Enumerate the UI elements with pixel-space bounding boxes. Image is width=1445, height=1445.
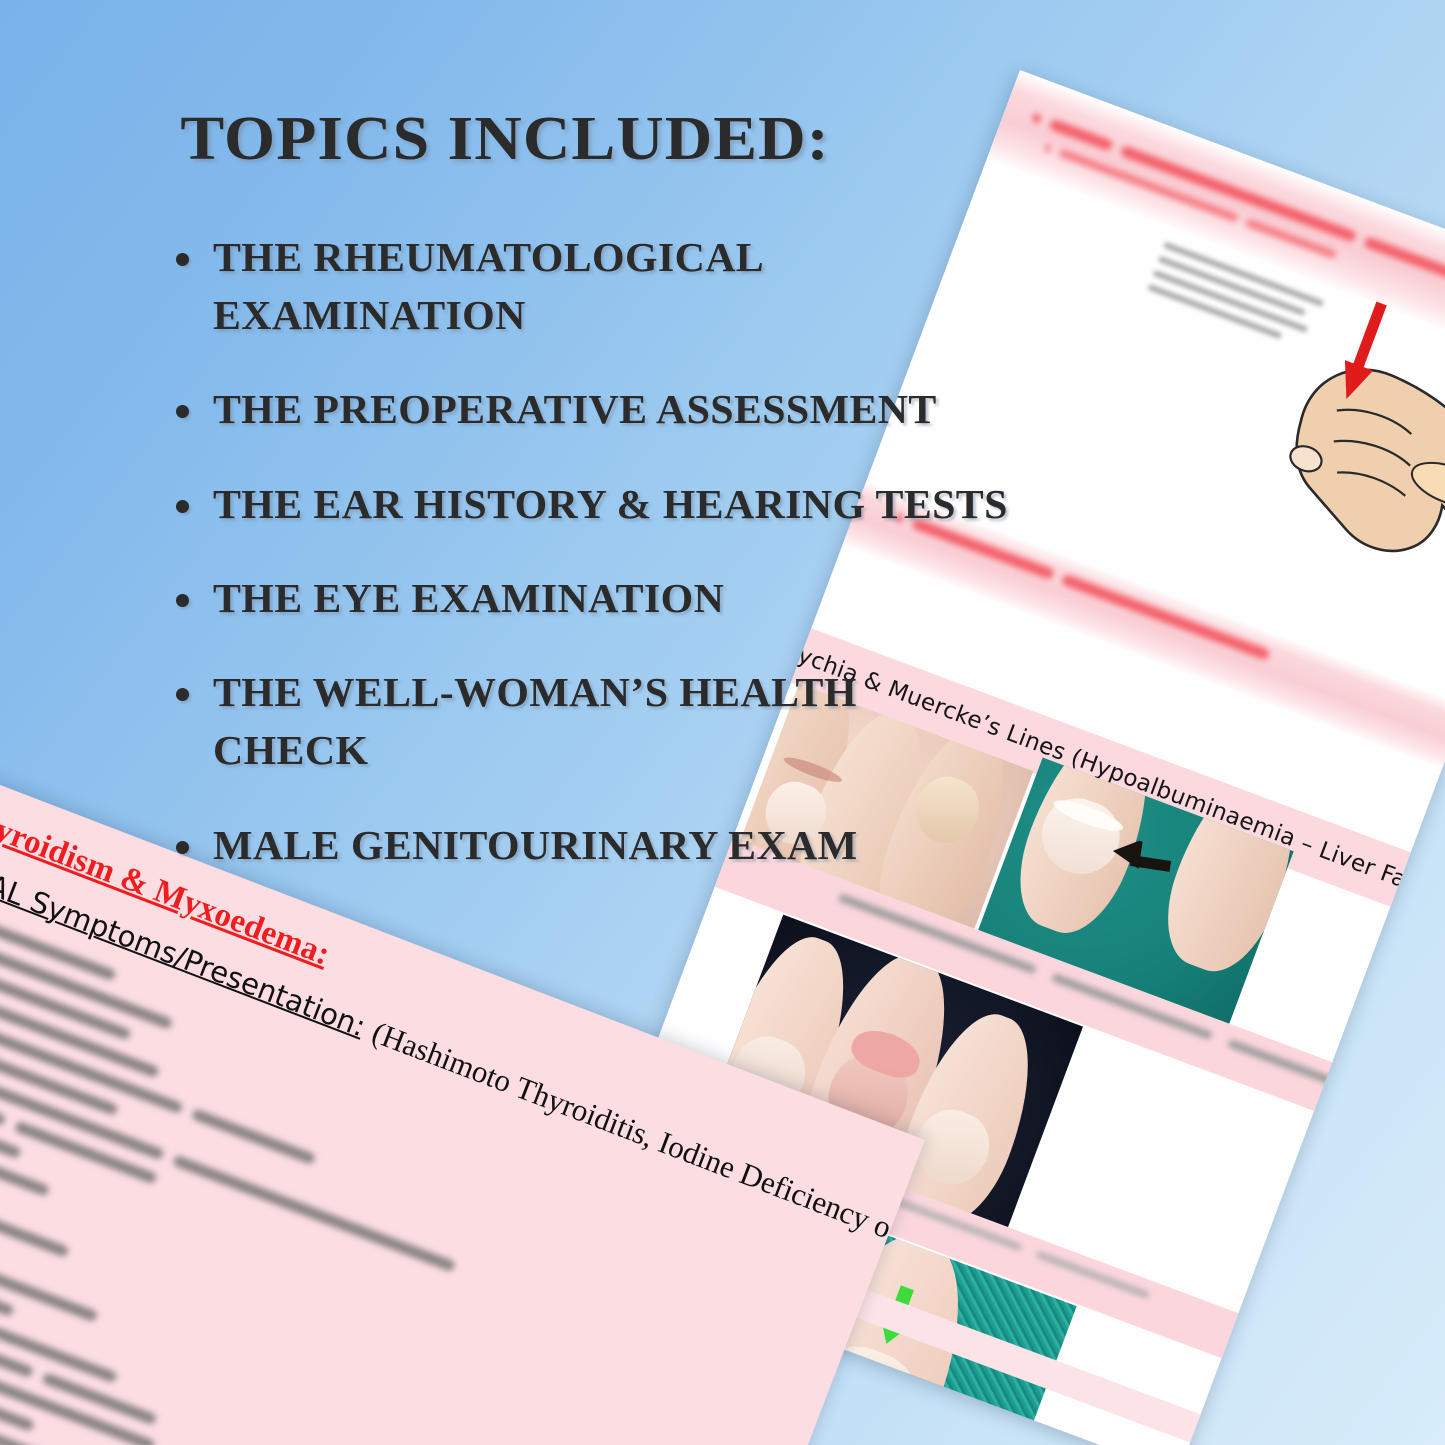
page-title: TOPICS INCLUDED:	[0, 104, 1040, 175]
list-item-label: THE RHEUMATOLOGICAL EXAMINATION	[213, 228, 784, 344]
list-item-label: THE WELL-WOMAN’S HEALTH CHECK	[213, 663, 1022, 779]
bullet-dot-icon	[176, 841, 189, 854]
list-item: MALE GENITOURINARY EXAM	[176, 816, 1006, 874]
bullet-dot-icon	[176, 688, 189, 701]
list-item-label: THE EAR HISTORY & HEARING TESTS	[213, 475, 1008, 533]
list-item: THE WELL-WOMAN’S HEALTH CHECK	[176, 663, 1006, 779]
bullet-dot-icon	[176, 500, 189, 513]
bullet-dot-icon	[176, 405, 189, 418]
list-item-label: THE PREOPERATIVE ASSESSMENT	[213, 380, 937, 438]
hand-anatomy-illustration	[1216, 298, 1445, 649]
list-item: THE EYE EXAMINATION	[176, 569, 1006, 627]
list-item-label: MALE GENITOURINARY EXAM	[213, 816, 858, 874]
list-item: THE PREOPERATIVE ASSESSMENT	[176, 380, 1006, 438]
list-item: THE EAR HISTORY & HEARING TESTS	[176, 475, 1006, 533]
bullet-dot-icon	[176, 594, 189, 607]
slide-canvas: …konychia & Muercke’s Lines (Hypoalbumin…	[0, 0, 1445, 1445]
list-item-label: THE EYE EXAMINATION	[213, 569, 724, 627]
list-item: THE RHEUMATOLOGICAL EXAMINATION	[176, 228, 1006, 344]
bullet-dot-icon	[176, 253, 189, 266]
topics-list: THE RHEUMATOLOGICAL EXAMINATION THE PREO…	[176, 228, 1006, 910]
